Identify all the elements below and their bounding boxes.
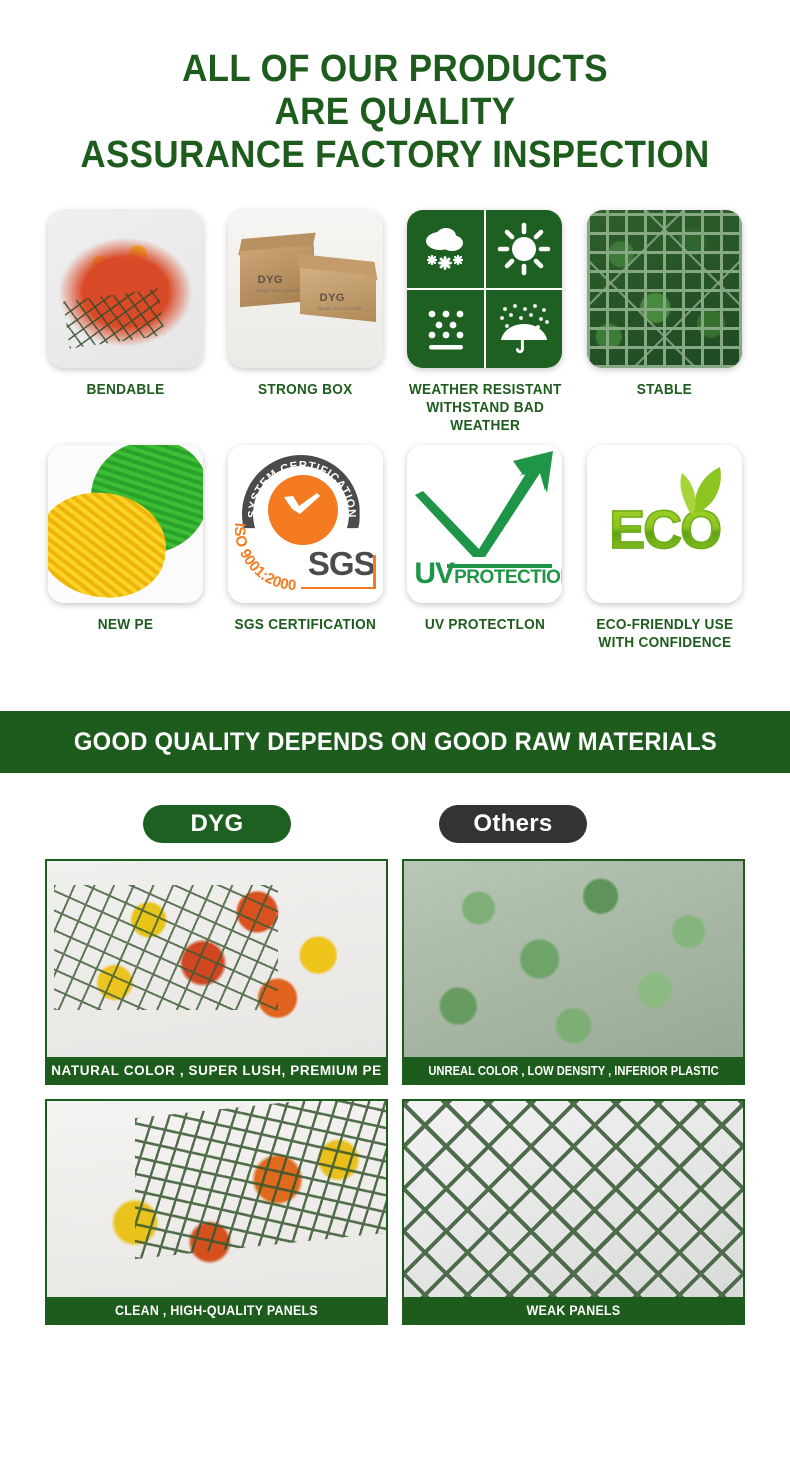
- eco-logo: ECO: [587, 445, 742, 603]
- foliage-roll-photo: [48, 210, 203, 368]
- sgs-iso-label: ISO 9001:2000: [230, 522, 296, 591]
- box-tagline: Design Your Greenlife: [256, 288, 300, 293]
- feature-grid: BENDABLE DYG Design Your Greenlife DYG D…: [0, 177, 790, 652]
- compare-caption: UNREAL COLOR , LOW DENSITY , INFERIOR PL…: [428, 1057, 720, 1083]
- compare-caption: CLEAN , HIGH-QUALITY PANELS: [61, 1297, 373, 1323]
- feature-item-new-pe[interactable]: NEW PE: [42, 445, 209, 652]
- pill-dyg[interactable]: DYG: [143, 805, 291, 843]
- compare-card-dyg-1[interactable]: NATURAL COLOR , SUPER LUSH, PREMIUM PE: [45, 859, 388, 1085]
- sgs-vertical-rule: [373, 555, 376, 589]
- sgs-underline: [301, 587, 375, 590]
- eco-tile[interactable]: ECO: [587, 445, 742, 603]
- feature-caption: BENDABLE: [86, 381, 164, 399]
- feature-caption: WEATHER RESISTANT WITHSTAND BAD WEATHER: [409, 381, 562, 435]
- compare-card-dyg-2[interactable]: CLEAN , HIGH-QUALITY PANELS: [45, 1099, 388, 1325]
- bare-plastic-lattice-photo: [404, 1101, 743, 1297]
- box-tagline-2: Design Your Greenlife: [318, 306, 362, 311]
- feature-item-eco-friendly[interactable]: ECO ECO-FRIENDLY USE WITH CONFIDENCE: [581, 445, 748, 652]
- feature-item-sgs[interactable]: SYSTEM CERTIFICATION ISO 9001:2000 SGS: [222, 445, 389, 652]
- cardboard-box-photo: DYG Design Your Greenlife DYG Design You…: [228, 210, 383, 368]
- sun-icon: [486, 210, 563, 288]
- sgs-tile[interactable]: SYSTEM CERTIFICATION ISO 9001:2000 SGS: [228, 445, 383, 603]
- uv-protection-tile[interactable]: UV PROTECTION: [407, 445, 562, 603]
- red-yellow-foliage-panel-photo: [47, 861, 386, 1057]
- stable-tile[interactable]: [587, 210, 742, 368]
- feature-item-stable[interactable]: STABLE: [581, 210, 748, 435]
- compare-card-others-2[interactable]: WEAK PANELS: [402, 1099, 745, 1325]
- weather-resistant-tile[interactable]: [407, 210, 562, 368]
- feature-caption: STABLE: [637, 381, 692, 399]
- compare-caption: WEAK PANELS: [418, 1297, 730, 1323]
- page-title: ALL OF OUR PRODUCTS ARE QUALITY ASSURANC…: [32, 0, 759, 177]
- sgs-wordmark: SGS: [308, 545, 375, 583]
- feature-caption: UV PROTECTLON: [425, 616, 545, 634]
- pale-green-boxwood-panel-photo: [404, 861, 743, 1057]
- lattice-panel-photo: [587, 210, 742, 368]
- feature-caption: NEW PE: [98, 616, 153, 634]
- new-pe-tile[interactable]: [48, 445, 203, 603]
- pe-pellets-photo: [48, 445, 203, 603]
- strong-box-tile[interactable]: DYG Design Your Greenlife DYG Design You…: [228, 210, 383, 368]
- feature-caption: ECO-FRIENDLY USE WITH CONFIDENCE: [596, 616, 733, 652]
- weather-icon-grid: [407, 210, 562, 368]
- comparison-grid: NATURAL COLOR , SUPER LUSH, PREMIUM PE U…: [0, 843, 790, 1325]
- uv-small-label: PROTECTION: [454, 567, 562, 589]
- rolled-foliage-panel-photo: [47, 1101, 386, 1297]
- compare-card-others-1[interactable]: UNREAL COLOR , LOW DENSITY , INFERIOR PL…: [402, 859, 745, 1085]
- section-banner: GOOD QUALITY DEPENDS ON GOOD RAW MATERIA…: [0, 711, 790, 773]
- feature-item-uv-protection[interactable]: UV PROTECTION UV PROTECTLON: [402, 445, 569, 652]
- snow-cloud-icon: [407, 210, 484, 288]
- umbrella-rain-icon: [486, 290, 563, 368]
- pill-others[interactable]: Others: [439, 805, 587, 843]
- banner-text: GOOD QUALITY DEPENDS ON GOOD RAW MATERIA…: [73, 728, 716, 757]
- box-logo-2: DYG: [320, 292, 345, 304]
- leaf-icon: [664, 463, 728, 515]
- svg-text:ISO 9001:2000: ISO 9001:2000: [230, 522, 296, 591]
- feature-item-bendable[interactable]: BENDABLE: [42, 210, 209, 435]
- uv-check-arrow-icon: [407, 445, 562, 563]
- uv-protection-logo: UV PROTECTION: [407, 445, 562, 603]
- bendable-tile[interactable]: [48, 210, 203, 368]
- hail-icon: [407, 290, 484, 368]
- sgs-logo: SYSTEM CERTIFICATION ISO 9001:2000 SGS: [228, 445, 383, 603]
- box-logo: DYG: [258, 274, 283, 286]
- uv-big-label: UV: [414, 557, 454, 591]
- feature-caption: SGS CERTIFICATION: [234, 616, 376, 634]
- feature-item-weather-resistant[interactable]: WEATHER RESISTANT WITHSTAND BAD WEATHER: [402, 210, 569, 435]
- comparison-pills: DYG Others: [0, 773, 790, 843]
- feature-item-strong-box[interactable]: DYG Design Your Greenlife DYG Design You…: [222, 210, 389, 435]
- compare-caption: NATURAL COLOR , SUPER LUSH, PREMIUM PE: [47, 1057, 386, 1083]
- feature-caption: STRONG BOX: [258, 381, 352, 399]
